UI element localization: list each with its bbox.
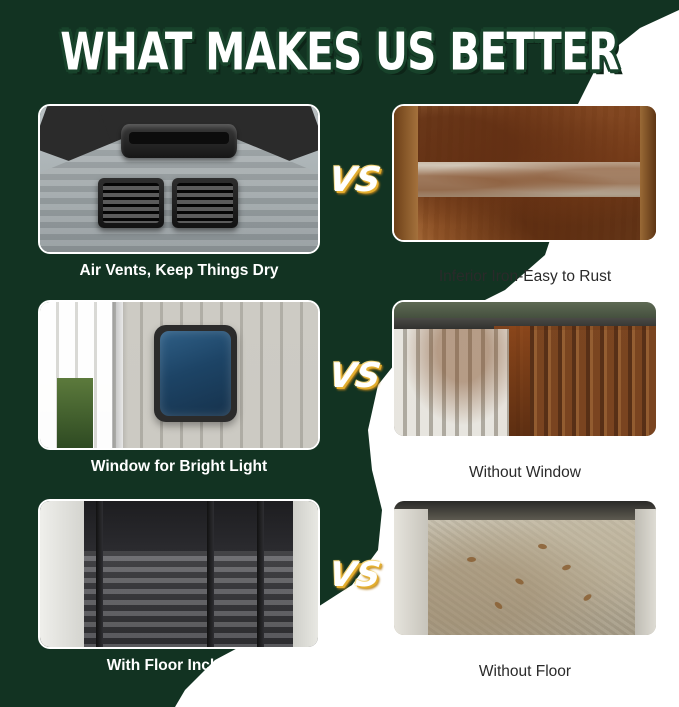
caption-without-floor: Without Floor <box>392 663 658 681</box>
interior-wall-right <box>293 501 318 647</box>
rusted-shed-no-window-photo <box>392 300 658 438</box>
page-title: WHAT MAKES US BETTER <box>0 22 679 81</box>
frame-post-left <box>96 501 103 647</box>
corner-shadow <box>112 302 128 448</box>
shed-gable-with-air-vents-photo <box>38 104 320 254</box>
frame-post-right <box>257 501 264 647</box>
shed-interior-bare-ground-photo <box>392 499 658 637</box>
ridge-vent <box>121 124 237 158</box>
vs-badge-row-2: VS <box>315 356 395 396</box>
louver-vent-right <box>172 178 238 228</box>
bare-interior-wall-right <box>635 509 656 635</box>
interior-wall-left <box>40 501 84 647</box>
comparison-poster: WHAT MAKES US BETTER Air Vents, Keep Thi… <box>0 0 679 707</box>
vs-badge-row-3: VS <box>315 555 395 595</box>
shed-wall-with-window-photo <box>38 300 320 450</box>
bare-interior-wall-left <box>394 509 428 635</box>
rusted-metal-panel-photo <box>392 104 658 242</box>
caption-air-vents: Air Vents, Keep Things Dry <box>38 262 320 280</box>
metal-doors <box>394 329 509 436</box>
frame-post-center <box>207 501 214 647</box>
rust-edge-left <box>394 106 418 240</box>
painted-band <box>394 162 656 197</box>
doorway-shadow <box>394 501 656 520</box>
caption-without-window: Without Window <box>392 464 658 482</box>
louver-vent-left <box>98 178 164 228</box>
grass-patch <box>57 378 93 448</box>
window-glass <box>160 331 231 415</box>
caption-window-bright-light: Window for Bright Light <box>38 458 320 476</box>
caption-inferior-iron: Inferior Iron-Easy to Rust <box>392 268 658 286</box>
rust-edge-right <box>640 106 656 240</box>
bare-ground <box>394 501 656 635</box>
caption-with-floor-included: With Floor Included <box>38 657 320 675</box>
shed-interior-with-floor-photo <box>38 499 320 649</box>
window-frame <box>154 325 237 421</box>
vs-badge-row-1: VS <box>315 160 395 200</box>
corrugated-wood-wall <box>509 326 656 436</box>
